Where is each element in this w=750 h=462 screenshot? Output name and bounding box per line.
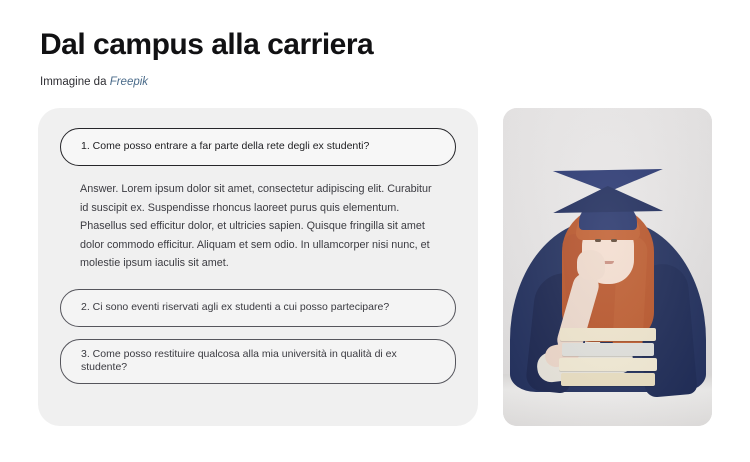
faq-spacer [60,327,456,339]
faq-question-1[interactable]: 1. Come posso entrare a far parte della … [60,128,456,166]
freepik-link[interactable]: Freepik [110,76,148,88]
page-root: Dal campus alla carriera Immagine da Fre… [0,0,750,462]
mortarboard-brim [552,185,662,213]
faq-accordion-card: 1. Come posso entrare a far parte della … [38,108,478,426]
page-header: Dal campus alla carriera Immagine da Fre… [40,28,700,89]
content-area: 1. Come posso entrare a far parte della … [38,108,712,426]
faq-item-1: 1. Come posso entrare a far parte della … [60,128,456,289]
book-stack [560,328,656,388]
image-credit: Immagine da Freepik [40,76,700,90]
graduate-photo [503,108,712,426]
hand-on-chin [577,250,605,280]
book-third [559,358,657,371]
eye-right [611,239,617,242]
faq-item-2: 2. Ci sono eventi riservati agli ex stud… [60,289,456,327]
faq-question-2[interactable]: 2. Ci sono eventi riservati agli ex stud… [60,289,456,327]
photo-backdrop [503,108,712,426]
book-second [562,343,654,356]
faq-question-3[interactable]: 3. Come posso restituire qualcosa alla m… [60,339,456,384]
book-top [560,328,656,341]
page-title: Dal campus alla carriera [40,28,700,63]
faq-item-3: 3. Come posso restituire qualcosa alla m… [60,339,456,384]
image-credit-prefix: Immagine da [40,76,110,88]
faq-answer-1: Answer. Lorem ipsum dolor sit amet, cons… [60,166,456,289]
eye-left [595,239,601,242]
book-bottom [561,373,655,386]
